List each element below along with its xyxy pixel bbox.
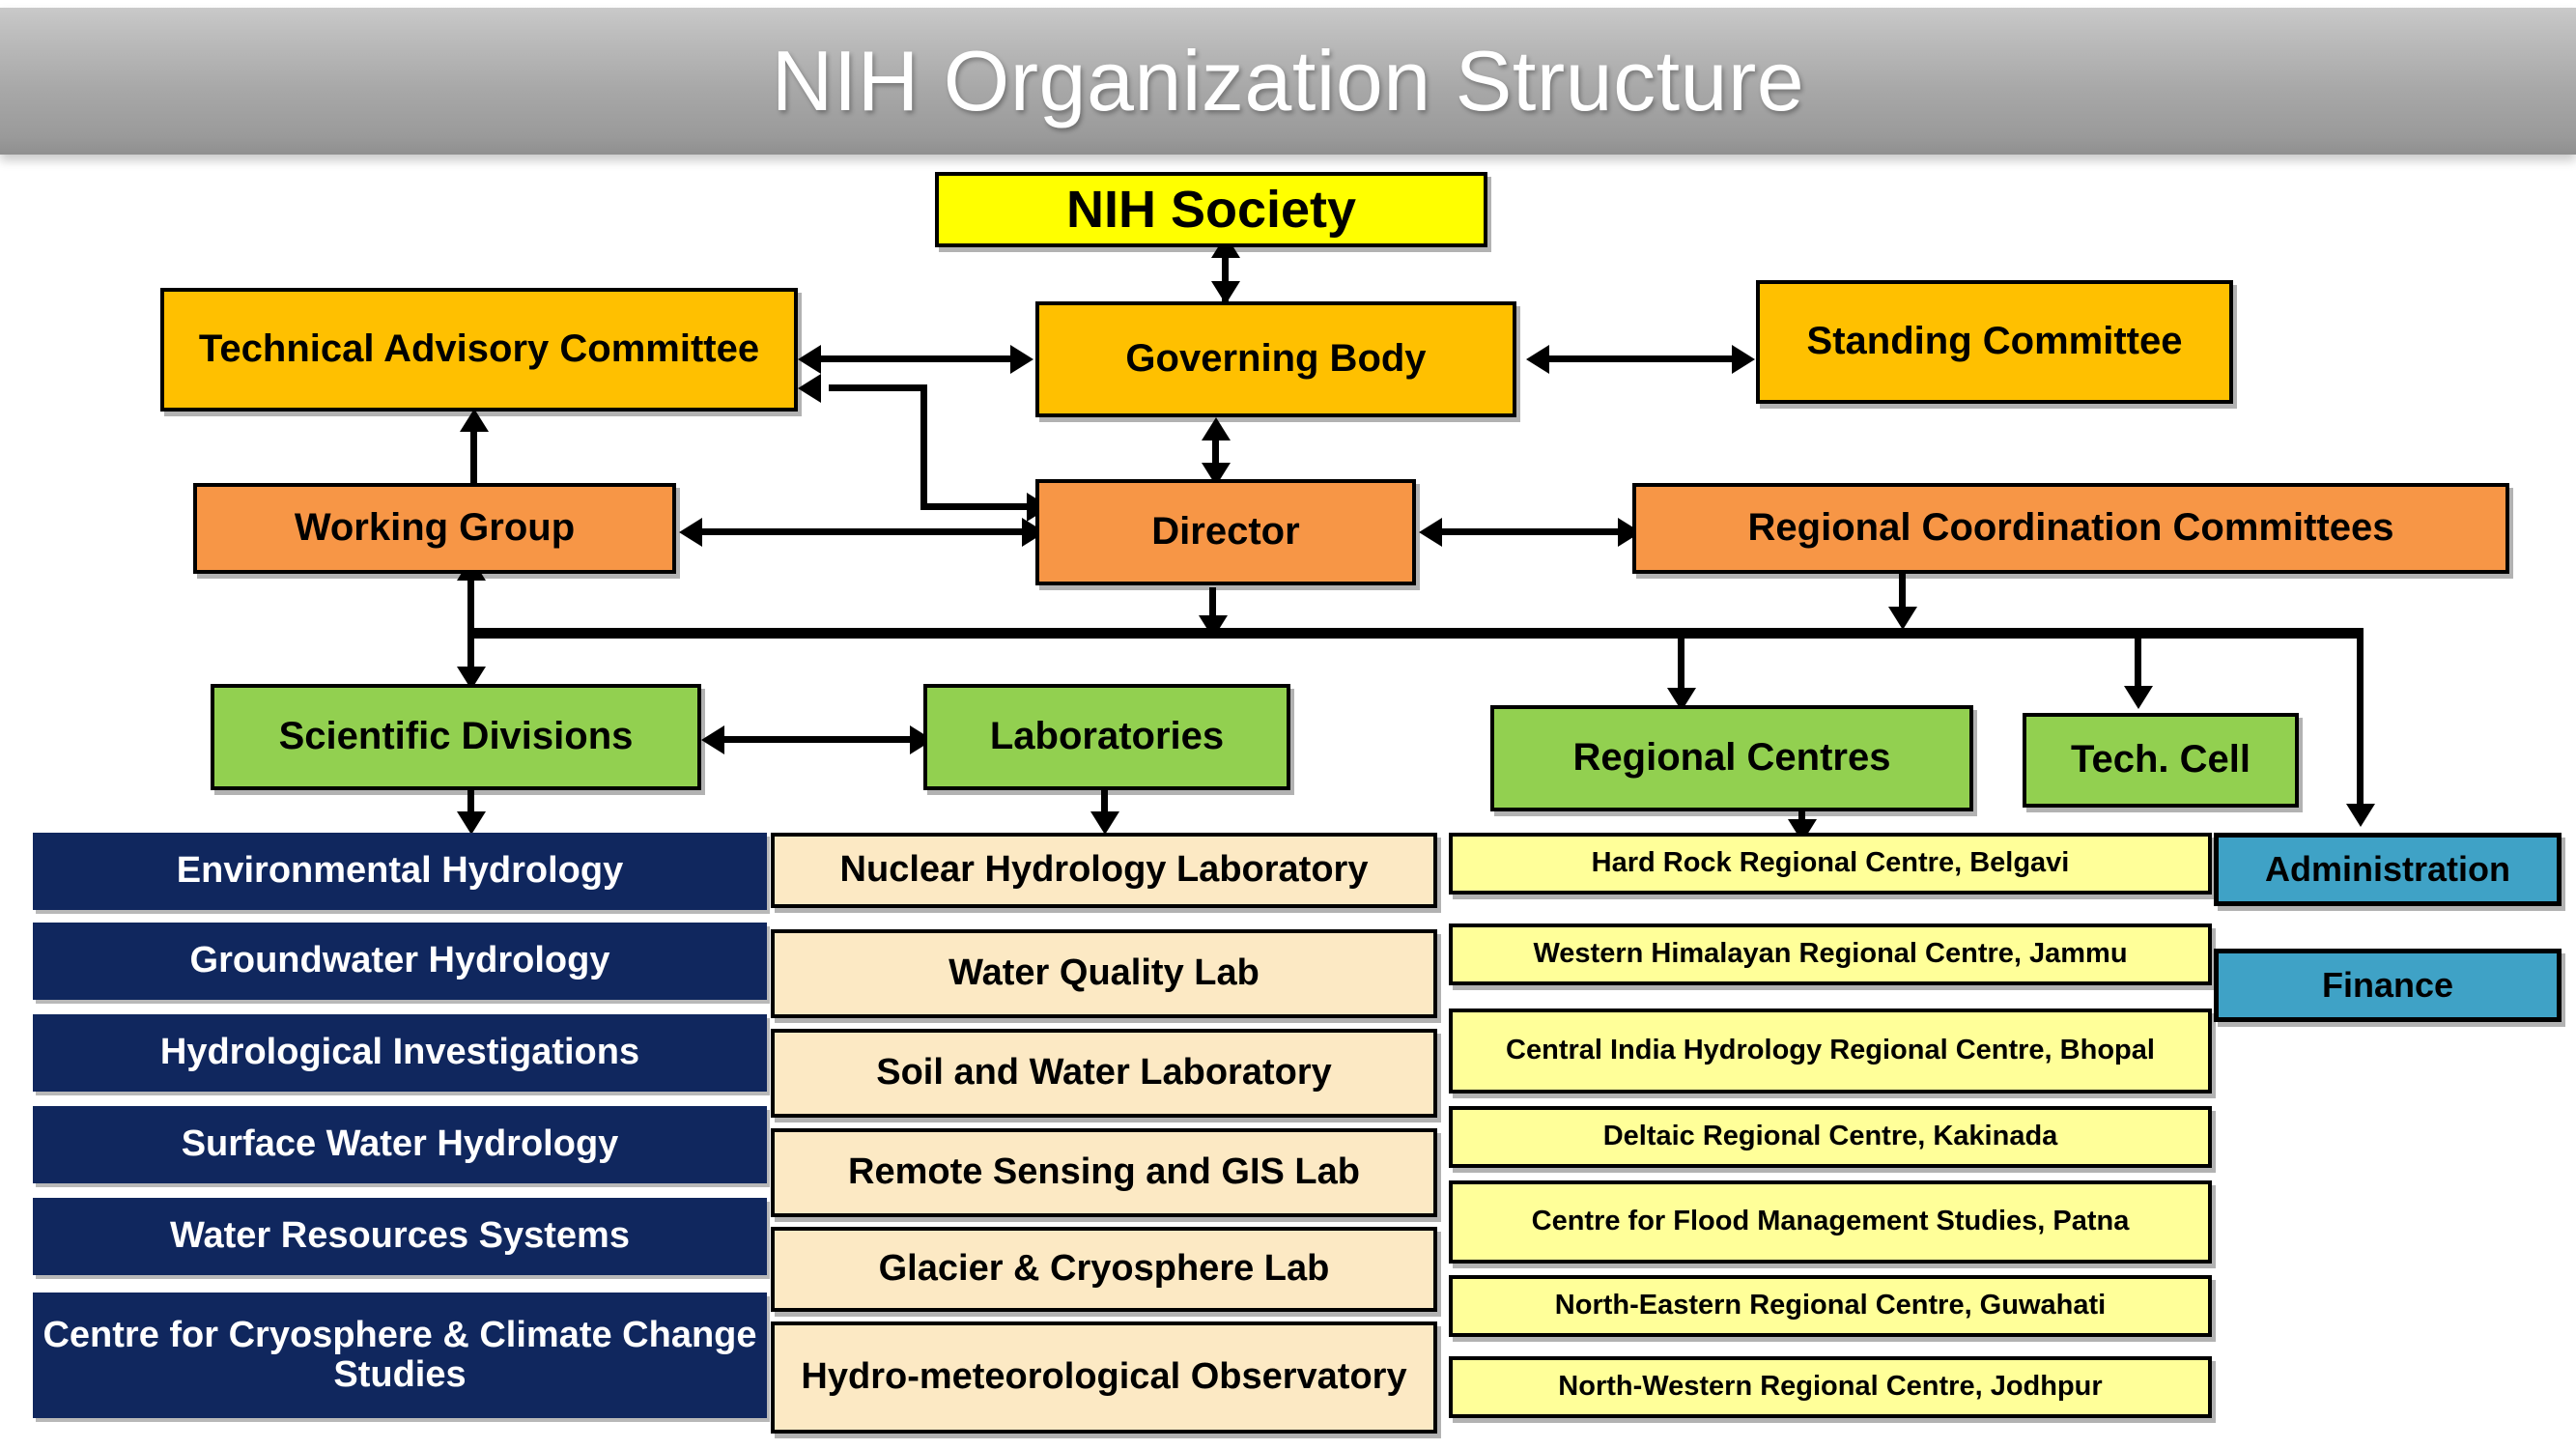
node-finance-label: Finance bbox=[2224, 967, 2551, 1005]
connector-governing-standing bbox=[1541, 355, 1741, 362]
arrowhead-administration-down bbox=[2346, 804, 2375, 827]
list-item-regional-centre-3[interactable]: Deltaic Regional Centre, Kakinada bbox=[1449, 1106, 2212, 1168]
node-technical-advisory-committee-label: Technical Advisory Committee bbox=[170, 328, 788, 370]
arrowhead-director-left3 bbox=[1419, 518, 1442, 547]
page-title-banner: NIH Organization Structure bbox=[0, 8, 2576, 155]
node-working-group-label: Working Group bbox=[203, 507, 666, 549]
list-item-division-3-label: Surface Water Hydrology bbox=[39, 1124, 761, 1164]
node-tech-cell-label: Tech. Cell bbox=[2032, 739, 2289, 781]
node-scientific-divisions-label: Scientific Divisions bbox=[220, 716, 692, 757]
node-nih-society-label: NIH Society bbox=[945, 182, 1478, 238]
node-regional-coordination-committees-label: Regional Coordination Committees bbox=[1642, 507, 2500, 549]
connector-director-rcc bbox=[1434, 528, 1628, 535]
list-item-laboratory-1[interactable]: Water Quality Lab bbox=[771, 929, 1437, 1018]
list-item-regional-centre-1-label: Western Himalayan Regional Centre, Jammu bbox=[1458, 939, 2202, 969]
connector-scidiv-labs bbox=[715, 736, 920, 743]
node-standing-committee[interactable]: Standing Committee bbox=[1756, 280, 2233, 404]
list-item-regional-centre-2-label: Central India Hydrology Regional Centre,… bbox=[1458, 1036, 2202, 1065]
list-item-regional-centre-4[interactable]: Centre for Flood Management Studies, Pat… bbox=[1449, 1180, 2212, 1264]
list-item-division-0-label: Environmental Hydrology bbox=[39, 851, 761, 891]
list-item-regional-centre-2[interactable]: Central India Hydrology Regional Centre,… bbox=[1449, 1009, 2212, 1094]
list-item-regional-centre-6[interactable]: North-Western Regional Centre, Jodhpur bbox=[1449, 1356, 2212, 1418]
list-item-regional-centre-0[interactable]: Hard Rock Regional Centre, Belgavi bbox=[1449, 833, 2212, 895]
list-item-laboratory-5[interactable]: Hydro-meteorological Observatory bbox=[771, 1321, 1437, 1434]
list-item-regional-centre-3-label: Deltaic Regional Centre, Kakinada bbox=[1458, 1122, 2202, 1151]
arrowhead-wg-left bbox=[679, 518, 702, 547]
list-item-laboratory-2-label: Soil and Water Laboratory bbox=[780, 1053, 1428, 1093]
node-regional-coordination-committees[interactable]: Regional Coordination Committees bbox=[1632, 483, 2509, 574]
node-scientific-divisions[interactable]: Scientific Divisions bbox=[211, 684, 701, 790]
list-item-division-1-label: Groundwater Hydrology bbox=[39, 941, 761, 980]
arrowhead-scidiv-list-down bbox=[457, 811, 486, 835]
list-item-regional-centre-0-label: Hard Rock Regional Centre, Belgavi bbox=[1458, 848, 2202, 878]
list-item-laboratory-3[interactable]: Remote Sensing and GIS Lab bbox=[771, 1128, 1437, 1217]
node-working-group[interactable]: Working Group bbox=[193, 483, 676, 574]
arrowhead-bus-down2 bbox=[1888, 607, 1917, 630]
node-finance[interactable]: Finance bbox=[2214, 949, 2562, 1022]
node-technical-advisory-committee[interactable]: Technical Advisory Committee bbox=[160, 288, 798, 412]
list-item-regional-centre-4-label: Centre for Flood Management Studies, Pat… bbox=[1458, 1207, 2202, 1236]
list-item-laboratory-3-label: Remote Sensing and GIS Lab bbox=[780, 1152, 1428, 1192]
node-administration-label: Administration bbox=[2224, 851, 2551, 889]
node-director[interactable]: Director bbox=[1035, 479, 1416, 585]
node-nih-society[interactable]: NIH Society bbox=[935, 172, 1487, 247]
list-item-regional-centre-1[interactable]: Western Himalayan Regional Centre, Jammu bbox=[1449, 923, 2212, 985]
list-item-regional-centre-5-label: North-Eastern Regional Centre, Guwahati bbox=[1458, 1291, 2202, 1321]
list-item-laboratory-4[interactable]: Glacier & Cryosphere Lab bbox=[771, 1227, 1437, 1312]
arrowhead-tac-left bbox=[798, 345, 821, 374]
node-laboratories-label: Laboratories bbox=[933, 716, 1281, 757]
connector-director-tac-h1 bbox=[920, 503, 1038, 510]
list-item-laboratory-1-label: Water Quality Lab bbox=[780, 953, 1428, 993]
list-item-laboratory-4-label: Glacier & Cryosphere Lab bbox=[780, 1249, 1428, 1289]
node-administration[interactable]: Administration bbox=[2214, 833, 2562, 906]
connector-wg-director bbox=[694, 528, 1032, 535]
node-laboratories[interactable]: Laboratories bbox=[923, 684, 1290, 790]
list-item-laboratory-0[interactable]: Nuclear Hydrology Laboratory bbox=[771, 833, 1437, 908]
list-item-division-3[interactable]: Surface Water Hydrology bbox=[33, 1106, 767, 1183]
org-chart-canvas: NIH Organization Structure bbox=[0, 0, 2576, 1449]
list-item-division-2-label: Hydrological Investigations bbox=[39, 1033, 761, 1072]
list-item-regional-centre-6-label: North-Western Regional Centre, Jodhpur bbox=[1458, 1372, 2202, 1402]
connector-director-tac-v bbox=[920, 384, 927, 510]
list-item-division-2[interactable]: Hydrological Investigations bbox=[33, 1014, 767, 1092]
node-tech-cell[interactable]: Tech. Cell bbox=[2023, 713, 2299, 808]
list-item-division-5[interactable]: Centre for Cryosphere & Climate Change S… bbox=[33, 1293, 767, 1418]
node-regional-centres-label: Regional Centres bbox=[1500, 737, 1964, 779]
list-item-division-5-label: Centre for Cryosphere & Climate Change S… bbox=[39, 1316, 761, 1395]
arrowhead-techcell-down bbox=[2124, 686, 2153, 709]
node-governing-body[interactable]: Governing Body bbox=[1035, 301, 1516, 417]
arrowhead-governing-left2 bbox=[1526, 345, 1549, 374]
arrowhead-standing-right bbox=[1732, 345, 1755, 374]
page-title: NIH Organization Structure bbox=[772, 32, 1804, 130]
list-item-division-1[interactable]: Groundwater Hydrology bbox=[33, 923, 767, 1000]
arrowhead-tac-up bbox=[460, 409, 489, 432]
node-standing-committee-label: Standing Committee bbox=[1766, 321, 2223, 362]
node-regional-centres[interactable]: Regional Centres bbox=[1490, 705, 1973, 811]
connector-tac-governing bbox=[811, 355, 1020, 362]
list-item-division-0[interactable]: Environmental Hydrology bbox=[33, 833, 767, 910]
node-director-label: Director bbox=[1045, 511, 1406, 553]
node-governing-body-label: Governing Body bbox=[1045, 338, 1507, 380]
connector-director-tac-h2 bbox=[829, 384, 925, 391]
arrowhead-governing-right bbox=[1010, 345, 1033, 374]
list-item-laboratory-0-label: Nuclear Hydrology Laboratory bbox=[780, 850, 1428, 890]
list-item-division-4-label: Water Resources Systems bbox=[39, 1216, 761, 1256]
arrowhead-tac-left2 bbox=[798, 374, 821, 403]
list-item-laboratory-2[interactable]: Soil and Water Laboratory bbox=[771, 1029, 1437, 1118]
list-item-regional-centre-5[interactable]: North-Eastern Regional Centre, Guwahati bbox=[1449, 1275, 2212, 1337]
connector-bus-administration bbox=[2357, 628, 2364, 821]
list-item-division-4[interactable]: Water Resources Systems bbox=[33, 1198, 767, 1275]
arrowhead-scidiv-left bbox=[701, 725, 724, 754]
arrowhead-labs-list-down bbox=[1090, 811, 1119, 835]
list-item-laboratory-5-label: Hydro-meteorological Observatory bbox=[780, 1357, 1428, 1397]
arrowhead-governing-up bbox=[1202, 417, 1231, 440]
distribution-bus bbox=[470, 628, 2364, 639]
